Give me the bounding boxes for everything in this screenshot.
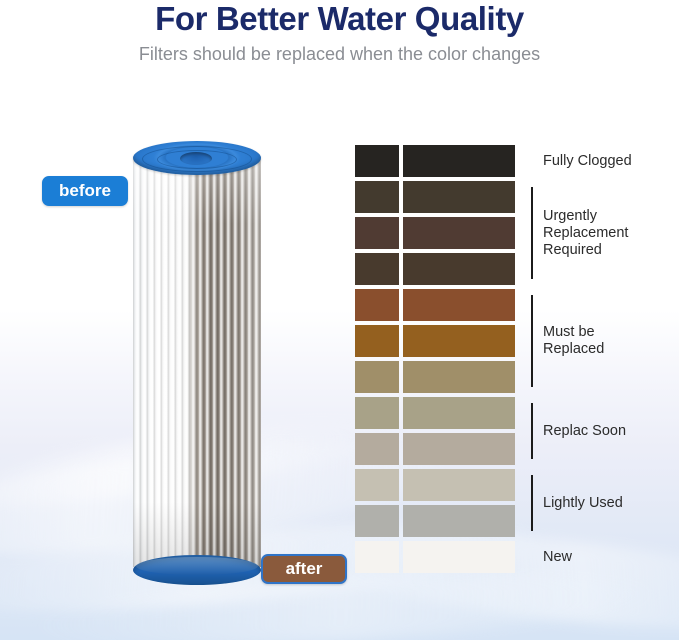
cartridge-bottom-cap xyxy=(133,555,261,585)
swatch-left xyxy=(355,433,399,465)
swatch-left xyxy=(355,325,399,357)
badge-before: before xyxy=(42,176,128,206)
swatch-left xyxy=(355,145,399,177)
page-subtitle: Filters should be replaced when the colo… xyxy=(0,42,679,66)
group-label-replac-soon: Replac Soon xyxy=(543,423,626,440)
filter-cartridge-image xyxy=(133,139,261,585)
badge-after: after xyxy=(261,554,347,584)
swatch-right xyxy=(403,325,515,357)
swatch-right xyxy=(403,505,515,537)
swatch-right xyxy=(403,397,515,429)
swatch-left xyxy=(355,469,399,501)
group-brackets xyxy=(531,145,533,585)
group-label-urgently-replacement-required: Urgently Replacement Required xyxy=(543,208,628,259)
cartridge-top-cap xyxy=(133,141,261,175)
swatch-right xyxy=(403,361,515,393)
bracket-must-be-replaced xyxy=(531,295,533,387)
swatch-right xyxy=(403,181,515,213)
bracket-lightly-used xyxy=(531,475,533,531)
swatch-right xyxy=(403,145,515,177)
swatch-right xyxy=(403,433,515,465)
group-label-fully-clogged: Fully Clogged xyxy=(543,153,632,170)
swatch-left xyxy=(355,541,399,573)
swatch-right xyxy=(403,217,515,249)
cartridge-pleated-body xyxy=(133,159,261,567)
swatch-right xyxy=(403,541,515,573)
swatch-left xyxy=(355,505,399,537)
group-label-new: New xyxy=(543,549,572,566)
group-labels: Fully CloggedUrgently Replacement Requir… xyxy=(543,145,679,585)
swatch-right xyxy=(403,253,515,285)
swatch-right xyxy=(403,469,515,501)
infographic-canvas: For Better Water Quality Filters should … xyxy=(0,0,679,640)
swatch-left xyxy=(355,397,399,429)
bracket-replac-soon xyxy=(531,403,533,459)
swatch-left xyxy=(355,289,399,321)
swatch-left xyxy=(355,217,399,249)
bracket-urgently-replacement-required xyxy=(531,187,533,279)
page-title: For Better Water Quality xyxy=(0,0,679,38)
swatch-left xyxy=(355,361,399,393)
swatch-left xyxy=(355,253,399,285)
group-label-must-be-replaced: Must be Replaced xyxy=(543,324,604,358)
cap-center-hole xyxy=(180,152,212,165)
swatch-right xyxy=(403,289,515,321)
swatch-left xyxy=(355,181,399,213)
group-label-lightly-used: Lightly Used xyxy=(543,495,623,512)
